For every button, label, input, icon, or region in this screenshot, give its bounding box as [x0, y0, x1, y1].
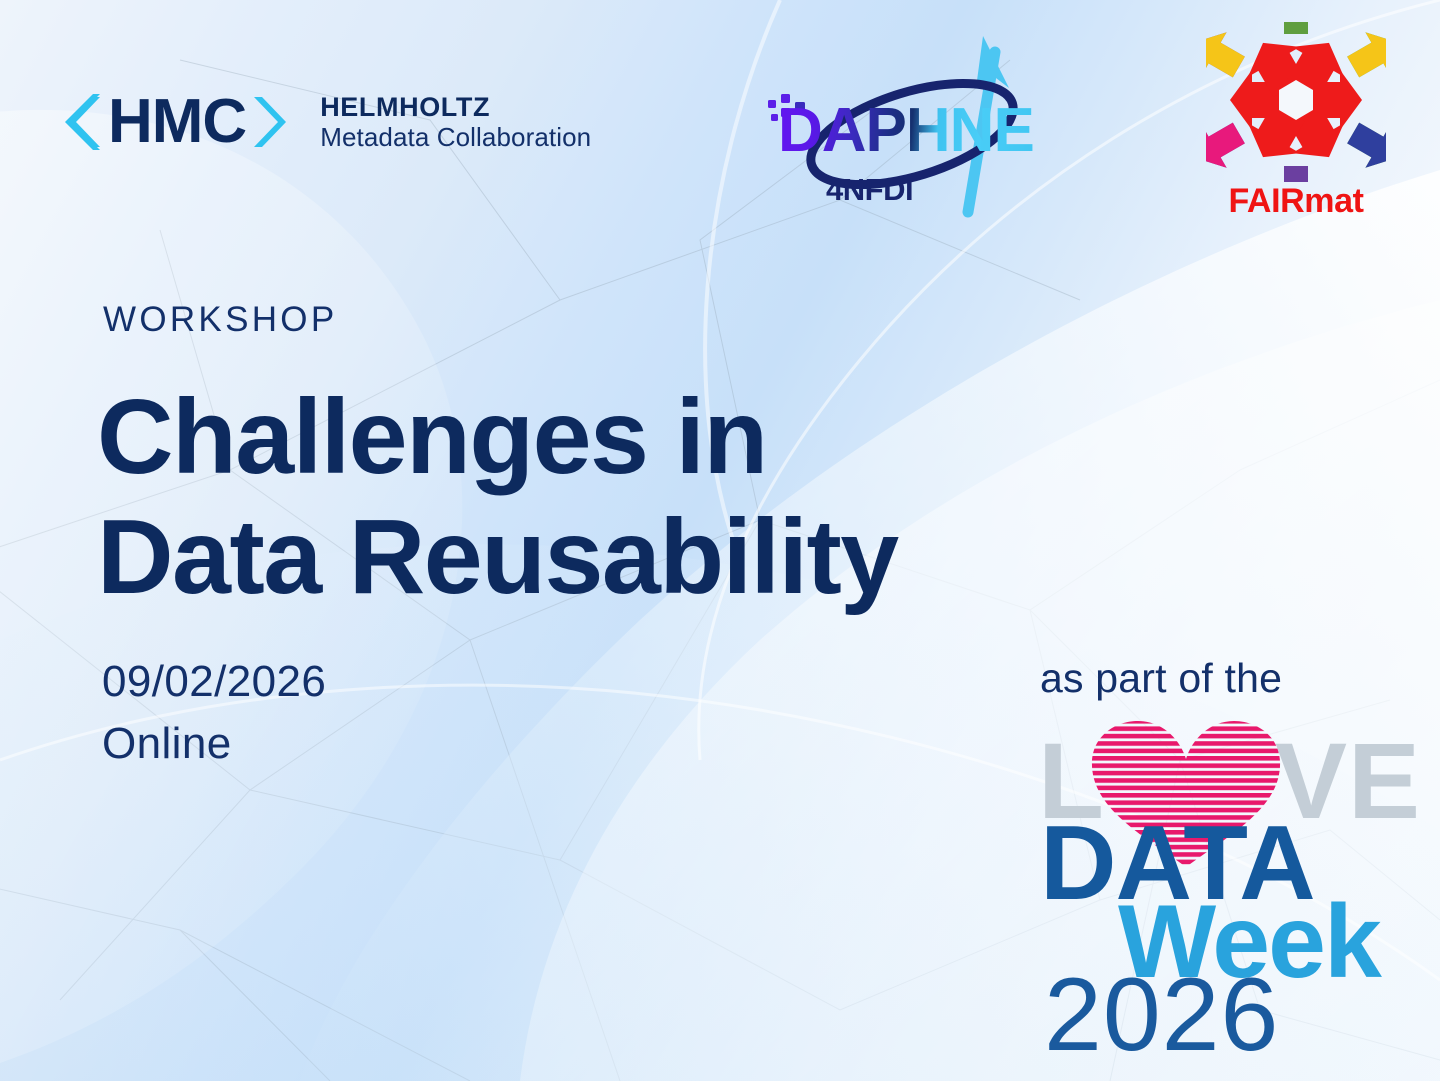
event-location: Online	[102, 713, 326, 775]
hmc-subtitle: Metadata Collaboration	[320, 123, 591, 152]
ldw-year: 2026	[1044, 963, 1279, 1067]
kicker-workshop: WORKSHOP	[103, 300, 337, 340]
poster-canvas: HMC HELMHOLTZ Metadata Collaboration	[0, 0, 1440, 1081]
chevron-left-icon	[62, 91, 104, 153]
fairmat-snowflake-icon	[1206, 22, 1386, 182]
hmc-mark: HMC	[62, 90, 292, 154]
hmc-title: HELMHOLTZ	[320, 92, 591, 122]
daphne-wordmark: DAPHNE	[778, 100, 1034, 162]
hmc-logo: HMC HELMHOLTZ Metadata Collaboration	[62, 90, 591, 154]
daphne-logo: DAPHNE 4NFDI	[752, 22, 1062, 222]
love-data-week-logo: LOOVE DATA Week 2026	[1030, 705, 1410, 1065]
event-date: 09/02/2026	[102, 651, 326, 713]
hmc-text-block: HELMHOLTZ Metadata Collaboration	[320, 92, 591, 151]
logo-row: HMC HELMHOLTZ Metadata Collaboration	[0, 0, 1440, 230]
page-title: Challenges in Data Reusability	[97, 378, 898, 618]
headline-line-1: Challenges in	[97, 378, 898, 498]
event-meta: 09/02/2026 Online	[102, 651, 326, 776]
hmc-wordmark: HMC	[108, 91, 246, 153]
fairmat-wordmark: FAIRmat	[1206, 182, 1386, 221]
as-part-of-label: as part of the	[1040, 655, 1282, 702]
fairmat-logo: FAIRmat	[1206, 22, 1386, 222]
headline-line-2: Data Reusability	[97, 498, 898, 618]
chevron-right-icon	[250, 91, 292, 153]
daphne-subtitle: 4NFDI	[826, 174, 913, 205]
